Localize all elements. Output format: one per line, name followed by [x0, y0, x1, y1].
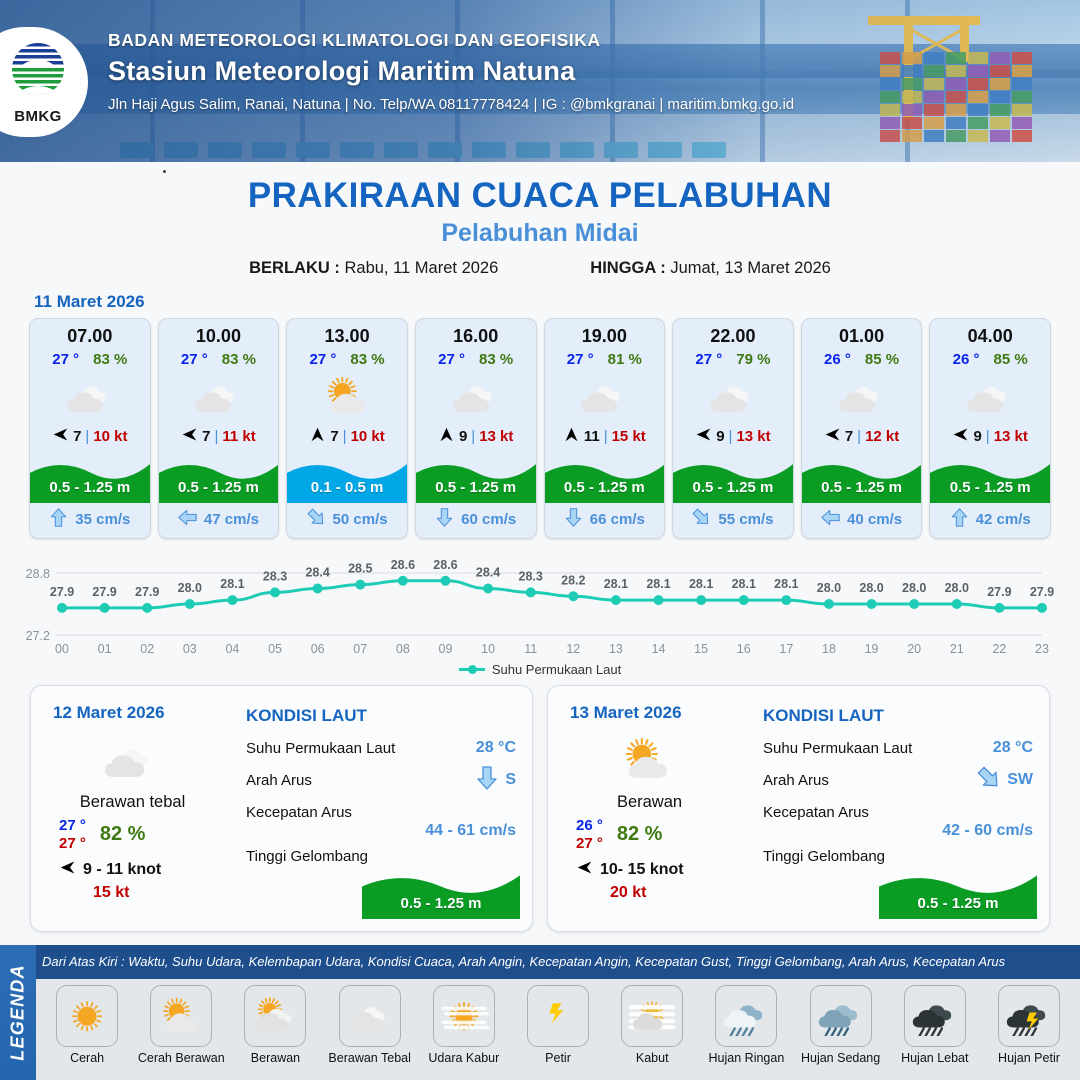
current-direction-row: Arah Arus S: [246, 764, 516, 796]
station-name: Stasiun Meteorologi Maritim Natuna: [108, 56, 794, 87]
card-temp-humidity: 27 °79 %: [673, 348, 793, 370]
legend-item-label: Cerah: [40, 1051, 134, 1065]
wind-direction-icon: [952, 426, 969, 447]
berawan-tebal-icon: [30, 370, 150, 424]
sst-value: 28 °C: [476, 739, 516, 757]
card-temperature: 27 °: [310, 351, 337, 368]
svg-text:09: 09: [439, 642, 453, 656]
svg-text:28.1: 28.1: [689, 577, 713, 591]
daily-sea-conditions: KONDISI LAUT Suhu Permukaan Laut 28 °C A…: [246, 686, 532, 931]
legend-item-label: Berawan Tebal: [323, 1051, 417, 1065]
svg-text:10: 10: [481, 642, 495, 656]
card-temp-humidity: 27 °83 %: [416, 348, 536, 370]
hujan-ringan-icon: [715, 985, 777, 1047]
sst-row: Suhu Permukaan Laut 28 °C: [246, 732, 516, 764]
svg-text:18: 18: [822, 642, 836, 656]
page-header: BMKG BADAN METEOROLOGI KLIMATOLOGI DAN G…: [0, 0, 1080, 162]
cerah-berawan-icon: [287, 370, 407, 424]
svg-text:28.6: 28.6: [433, 559, 457, 572]
berawan-tebal-icon: [416, 370, 536, 424]
card-humidity: 81 %: [608, 351, 642, 368]
berawan-tebal-icon: [53, 729, 246, 791]
hourly-card[interactable]: 04.0026 °85 %9|13 kt0.5 - 1.25 m42 cm/s: [929, 318, 1051, 539]
berawan-icon: [244, 985, 306, 1047]
svg-text:28.1: 28.1: [604, 577, 628, 591]
card-humidity: 83 %: [222, 351, 256, 368]
wind-direction-icon: [52, 426, 69, 447]
hourly-card[interactable]: 19.0027 °81 %11|15 kt0.5 - 1.25 m66 cm/s: [544, 318, 666, 539]
svg-text:01: 01: [98, 642, 112, 656]
current-direction-icon: [977, 766, 1001, 795]
hourly-card[interactable]: 22.0027 °79 %9|13 kt0.5 - 1.25 m55 cm/s: [672, 318, 794, 539]
svg-text:13: 13: [609, 642, 623, 656]
petir-icon: [527, 985, 589, 1047]
wind-speed: 9: [459, 428, 467, 445]
card-time: 13.00: [287, 319, 407, 348]
daily-wave-block: 0.5 - 1.25 m: [879, 863, 1037, 919]
card-current: 35 cm/s: [30, 503, 150, 538]
chart-legend-label: Suhu Permukaan Laut: [492, 662, 621, 677]
svg-text:28.1: 28.1: [732, 577, 756, 591]
legenda-tab: LEGENDA: [0, 945, 36, 1080]
current-speed: 35 cm/s: [75, 511, 130, 528]
daily-wave-value: 0.5 - 1.25 m: [879, 895, 1037, 912]
daily-temps: 26 ° 27 ° 82 %: [570, 817, 763, 852]
svg-text:03: 03: [183, 642, 197, 656]
current-direction-icon: [821, 508, 840, 531]
udara-kabur-icon: [433, 985, 495, 1047]
legend-item-label: Berawan: [228, 1051, 322, 1065]
validity-row: BERLAKU : Rabu, 11 Maret 2026 HINGGA : J…: [0, 259, 1080, 278]
card-temp-humidity: 26 °85 %: [802, 348, 922, 370]
card-humidity: 79 %: [736, 351, 770, 368]
legend-item-label: Udara Kabur: [417, 1051, 511, 1065]
svg-text:28.8: 28.8: [26, 567, 50, 581]
card-humidity: 83 %: [479, 351, 513, 368]
current-direction-icon: [178, 508, 197, 531]
wind-gust: 13 kt: [736, 428, 770, 445]
card-temperature: 26 °: [824, 351, 851, 368]
svg-text:27.9: 27.9: [50, 585, 74, 599]
daily-left: 13 Maret 2026 Berawan 26 ° 27 ° 82 % 10-…: [548, 686, 763, 931]
current-direction-group: S: [475, 766, 516, 795]
daily-humidity: 82 %: [617, 823, 663, 846]
card-time: 22.00: [673, 319, 793, 348]
wind-direction-icon: [438, 426, 455, 447]
legend-item: Cerah Berawan: [134, 985, 228, 1065]
wind-separator: |: [85, 428, 89, 445]
svg-text:28.4: 28.4: [476, 566, 500, 580]
current-speed: 47 cm/s: [204, 511, 259, 528]
daily-wave-block: 0.5 - 1.25 m: [362, 863, 520, 919]
current-speed: 42 cm/s: [976, 511, 1031, 528]
legend-item-label: Hujan Lebat: [888, 1051, 982, 1065]
svg-text:27.9: 27.9: [92, 585, 116, 599]
daily-sea-conditions: KONDISI LAUT Suhu Permukaan Laut 28 °C A…: [763, 686, 1049, 931]
svg-text:00: 00: [55, 642, 69, 656]
card-wind: 9|13 kt: [930, 424, 1050, 450]
card-temp-humidity: 27 °83 %: [287, 348, 407, 370]
wind-separator: |: [604, 428, 608, 445]
card-wave-height: 0.1 - 0.5 m: [287, 451, 407, 503]
sst-line-chart: 28.827.227.90027.90127.90228.00328.10428…: [0, 559, 1080, 659]
current-direction-icon: [475, 766, 499, 795]
legend-section: LEGENDA Dari Atas Kiri : Waktu, Suhu Uda…: [0, 945, 1080, 1080]
svg-text:04: 04: [225, 642, 239, 656]
card-wind: 7|12 kt: [802, 424, 922, 450]
hourly-card[interactable]: 10.0027 °83 %7|11 kt0.5 - 1.25 m47 cm/s: [158, 318, 280, 539]
daily-wind-speed: 10- 15 knot: [600, 861, 684, 879]
svg-text:16: 16: [737, 642, 751, 656]
wind-speed: 7: [202, 428, 210, 445]
svg-text:28.1: 28.1: [220, 577, 244, 591]
card-time: 01.00: [802, 319, 922, 348]
cerah-berawan-icon: [150, 985, 212, 1047]
current-speed-label: Kecepatan Arus: [246, 804, 352, 821]
daily-temps: 27 ° 27 ° 82 %: [53, 817, 246, 852]
daily-wind-speed: 9 - 11 knot: [83, 861, 161, 879]
current-direction-icon: [692, 508, 711, 531]
port-name: Pelabuhan Midai: [0, 219, 1080, 248]
wind-gust: 12 kt: [865, 428, 899, 445]
legend-items: CerahCerah BerawanBerawanBerawan TebalUd…: [36, 979, 1080, 1080]
current-direction-value: S: [505, 771, 516, 789]
wind-speed: 9: [716, 428, 724, 445]
card-temperature: 26 °: [953, 351, 980, 368]
legend-item: Cerah: [40, 985, 134, 1065]
card-wave-height: 0.5 - 1.25 m: [673, 451, 793, 503]
card-time: 07.00: [30, 319, 150, 348]
card-wind: 7|10 kt: [287, 424, 407, 450]
current-direction-label: Arah Arus: [246, 772, 312, 789]
card-wind: 11|15 kt: [545, 424, 665, 450]
card-wind: 7|10 kt: [30, 424, 150, 450]
legend-item-label: Hujan Petir: [982, 1051, 1076, 1065]
card-temperature: 27 °: [695, 351, 722, 368]
wind-gust: 10 kt: [351, 428, 385, 445]
daily-date: 13 Maret 2026: [570, 703, 763, 723]
hujan-lebat-icon: [904, 985, 966, 1047]
card-temperature: 27 °: [438, 351, 465, 368]
card-humidity: 83 %: [350, 351, 384, 368]
card-temp-humidity: 26 °85 %: [930, 348, 1050, 370]
card-temperature: 27 °: [52, 351, 79, 368]
card-humidity: 85 %: [865, 351, 899, 368]
kabut-icon: [621, 985, 683, 1047]
berawan-tebal-icon: [930, 370, 1050, 424]
sst-row: Suhu Permukaan Laut 28 °C: [763, 732, 1033, 764]
svg-text:17: 17: [779, 642, 793, 656]
legenda-tab-label: LEGENDA: [8, 964, 29, 1060]
card-temperature: 27 °: [181, 351, 208, 368]
current-direction-label: Arah Arus: [763, 772, 829, 789]
berawan-tebal-icon: [673, 370, 793, 424]
daily-date: 12 Maret 2026: [53, 703, 246, 723]
sea-conditions-title: KONDISI LAUT: [763, 706, 1033, 726]
legend-item: Berawan: [228, 985, 322, 1065]
svg-text:28.6: 28.6: [391, 559, 415, 572]
wind-separator: |: [986, 428, 990, 445]
card-current: 40 cm/s: [802, 503, 922, 538]
wind-direction-icon: [695, 426, 712, 447]
svg-text:28.0: 28.0: [945, 581, 969, 595]
card-current: 60 cm/s: [416, 503, 536, 538]
hourly-card[interactable]: 07.0027 °83 %7|10 kt0.5 - 1.25 m35 cm/s: [29, 318, 151, 539]
wind-speed: 7: [845, 428, 853, 445]
daily-temp-min: 27 °: [59, 835, 86, 852]
wind-separator: |: [214, 428, 218, 445]
wind-speed: 9: [973, 428, 981, 445]
daily-wave-value: 0.5 - 1.25 m: [362, 895, 520, 912]
wind-speed: 7: [330, 428, 338, 445]
daily-condition: Berawan tebal: [53, 793, 246, 812]
legend-item-label: Cerah Berawan: [134, 1051, 228, 1065]
daily-temp-max: 26 °: [576, 817, 603, 834]
hourly-card[interactable]: 16.0027 °83 %9|13 kt0.5 - 1.25 m60 cm/s: [415, 318, 537, 539]
wave-height-label: 0.5 - 1.25 m: [673, 479, 793, 496]
card-current: 42 cm/s: [930, 503, 1050, 538]
sst-chart: 28.827.227.90027.90127.90228.00328.10428…: [0, 553, 1080, 653]
svg-text:08: 08: [396, 642, 410, 656]
daily-wind: 9 - 11 knot: [53, 859, 246, 881]
berawan-tebal-icon: [545, 370, 665, 424]
sst-label: Suhu Permukaan Laut: [246, 740, 395, 757]
card-wave-height: 0.5 - 1.25 m: [159, 451, 279, 503]
current-direction-group: SW: [977, 766, 1033, 795]
svg-text:27.2: 27.2: [26, 629, 50, 643]
wave-label: Tinggi Gelombang: [246, 848, 368, 865]
svg-text:28.2: 28.2: [561, 573, 585, 587]
current-speed: 40 cm/s: [847, 511, 902, 528]
svg-text:07: 07: [353, 642, 367, 656]
svg-text:27.9: 27.9: [1030, 585, 1054, 599]
wind-speed: 7: [73, 428, 81, 445]
agency-name: BADAN METEOROLOGI KLIMATOLOGI DAN GEOFIS…: [108, 30, 794, 51]
daily-forecast-panels: 12 Maret 2026 Berawan tebal 27 ° 27 ° 82…: [0, 677, 1080, 932]
card-time: 19.00: [545, 319, 665, 348]
wind-direction-icon: [576, 859, 593, 881]
hourly-forecast-cards: 07.0027 °83 %7|10 kt0.5 - 1.25 m35 cm/s1…: [0, 318, 1080, 539]
sst-label: Suhu Permukaan Laut: [763, 740, 912, 757]
svg-text:23: 23: [1035, 642, 1049, 656]
svg-text:19: 19: [865, 642, 879, 656]
legend-item-label: Petir: [511, 1051, 605, 1065]
wind-separator: |: [857, 428, 861, 445]
wind-gust: 10 kt: [93, 428, 127, 445]
wind-speed: 11: [584, 428, 600, 445]
daily-humidity: 82 %: [100, 823, 146, 846]
wind-direction-icon: [563, 426, 580, 447]
svg-text:28.3: 28.3: [519, 569, 543, 583]
hourly-date-label: 11 Maret 2026: [34, 292, 1080, 312]
hujan-petir-icon: [998, 985, 1060, 1047]
svg-text:28.1: 28.1: [646, 577, 670, 591]
current-direction-row: Arah Arus SW: [763, 764, 1033, 796]
current-speed: 66 cm/s: [590, 511, 645, 528]
card-wind: 9|13 kt: [673, 424, 793, 450]
hingga-value: Jumat, 13 Maret 2026: [670, 259, 831, 277]
current-direction-icon: [564, 508, 583, 531]
header-text-block: BADAN METEOROLOGI KLIMATOLOGI DAN GEOFIS…: [108, 30, 794, 113]
current-speed-value: 42 - 60 cm/s: [763, 822, 1033, 840]
card-wind: 9|13 kt: [416, 424, 536, 450]
berlaku-group: BERLAKU : Rabu, 11 Maret 2026: [249, 259, 498, 278]
daily-temp-min: 27 °: [576, 835, 603, 852]
svg-text:21: 21: [950, 642, 964, 656]
current-direction-icon: [307, 508, 326, 531]
legend-item: Hujan Sedang: [794, 985, 888, 1065]
legend-item-label: Hujan Sedang: [794, 1051, 888, 1065]
sst-value: 28 °C: [993, 739, 1033, 757]
wind-separator: |: [729, 428, 733, 445]
legend-item-label: Hujan Ringan: [699, 1051, 793, 1065]
card-wave-height: 0.5 - 1.25 m: [545, 451, 665, 503]
berlaku-label: BERLAKU :: [249, 259, 340, 277]
current-speed: 50 cm/s: [333, 511, 388, 528]
svg-text:28.0: 28.0: [859, 581, 883, 595]
svg-text:27.9: 27.9: [987, 585, 1011, 599]
svg-text:28.5: 28.5: [348, 562, 372, 576]
svg-text:02: 02: [140, 642, 154, 656]
card-current: 47 cm/s: [159, 503, 279, 538]
daily-left: 12 Maret 2026 Berawan tebal 27 ° 27 ° 82…: [31, 686, 246, 931]
hourly-card[interactable]: 13.0027 °83 %7|10 kt0.1 - 0.5 m50 cm/s: [286, 318, 408, 539]
svg-text:05: 05: [268, 642, 282, 656]
legend-item: Berawan Tebal: [323, 985, 417, 1065]
daily-forecast-panel[interactable]: 13 Maret 2026 Berawan 26 ° 27 ° 82 % 10-…: [547, 685, 1050, 932]
berawan-tebal-icon: [339, 985, 401, 1047]
berawan-tebal-icon: [802, 370, 922, 424]
card-temperature: 27 °: [567, 351, 594, 368]
bmkg-logo-text: BMKG: [0, 108, 76, 125]
current-direction-icon: [49, 508, 68, 531]
daily-gust: 15 kt: [53, 884, 246, 902]
svg-text:28.4: 28.4: [305, 566, 329, 580]
card-current: 66 cm/s: [545, 503, 665, 538]
wind-gust: 13 kt: [479, 428, 513, 445]
bmkg-emblem-icon: [7, 40, 69, 102]
berlaku-value: Rabu, 11 Maret 2026: [344, 259, 498, 277]
svg-text:28.3: 28.3: [263, 569, 287, 583]
hingga-group: HINGGA : Jumat, 13 Maret 2026: [590, 259, 831, 278]
daily-condition: Berawan: [570, 793, 763, 812]
svg-text:28.1: 28.1: [774, 577, 798, 591]
legend-item: Kabut: [605, 985, 699, 1065]
card-wave-height: 0.5 - 1.25 m: [30, 451, 150, 503]
card-time: 04.00: [930, 319, 1050, 348]
svg-text:22: 22: [992, 642, 1006, 656]
svg-text:28.0: 28.0: [817, 581, 841, 595]
current-direction-value: SW: [1007, 771, 1033, 789]
wind-direction-icon: [824, 426, 841, 447]
daily-wind: 10- 15 knot: [570, 859, 763, 881]
bmkg-logo: BMKG: [0, 27, 88, 137]
legend-item: Hujan Ringan: [699, 985, 793, 1065]
wave-height-label: 0.5 - 1.25 m: [802, 479, 922, 496]
legend-line-icon: [459, 668, 485, 671]
wind-separator: |: [471, 428, 475, 445]
page-title-block: PRAKIRAAN CUACA PELABUHAN Pelabuhan Mida…: [0, 176, 1080, 278]
card-wave-height: 0.5 - 1.25 m: [416, 451, 536, 503]
svg-text:12: 12: [566, 642, 580, 656]
daily-forecast-panel[interactable]: 12 Maret 2026 Berawan tebal 27 ° 27 ° 82…: [30, 685, 533, 932]
cerah-berawan-icon: [570, 729, 763, 791]
wave-height-label: 0.1 - 0.5 m: [287, 479, 407, 496]
current-speed: 60 cm/s: [461, 511, 516, 528]
daily-temp-max: 27 °: [59, 817, 86, 834]
card-temp-humidity: 27 °83 %: [30, 348, 150, 370]
current-direction-icon: [950, 508, 969, 531]
station-address: Jln Haji Agus Salim, Ranai, Natuna | No.…: [108, 96, 794, 113]
wind-gust: 13 kt: [994, 428, 1028, 445]
wave-height-label: 0.5 - 1.25 m: [30, 479, 150, 496]
svg-text:06: 06: [311, 642, 325, 656]
wind-direction-icon: [309, 426, 326, 447]
wind-separator: |: [343, 428, 347, 445]
legend-item: Hujan Petir: [982, 985, 1076, 1065]
legend-item: Petir: [511, 985, 605, 1065]
wind-direction-icon: [181, 426, 198, 447]
cerah-icon: [56, 985, 118, 1047]
svg-text:20: 20: [907, 642, 921, 656]
svg-text:28.0: 28.0: [902, 581, 926, 595]
page-title: PRAKIRAAN CUACA PELABUHAN: [0, 176, 1080, 216]
hingga-label: HINGGA :: [590, 259, 665, 277]
wind-gust: 15 kt: [612, 428, 646, 445]
card-current: 50 cm/s: [287, 503, 407, 538]
card-time: 16.00: [416, 319, 536, 348]
stray-dot: [163, 170, 166, 173]
svg-text:15: 15: [694, 642, 708, 656]
wind-direction-icon: [59, 859, 76, 881]
svg-text:27.9: 27.9: [135, 585, 159, 599]
chart-legend: Suhu Permukaan Laut: [0, 662, 1080, 677]
card-temp-humidity: 27 °81 %: [545, 348, 665, 370]
legend-note: Dari Atas Kiri : Waktu, Suhu Udara, Kele…: [42, 954, 1072, 969]
legend-item: Udara Kabur: [417, 985, 511, 1065]
card-humidity: 83 %: [93, 351, 127, 368]
legend-item-label: Kabut: [605, 1051, 699, 1065]
current-speed-label: Kecepatan Arus: [763, 804, 869, 821]
current-speed: 55 cm/s: [718, 511, 773, 528]
hujan-sedang-icon: [810, 985, 872, 1047]
wave-label: Tinggi Gelombang: [763, 848, 885, 865]
wave-height-label: 0.5 - 1.25 m: [159, 479, 279, 496]
legend-item: Hujan Lebat: [888, 985, 982, 1065]
wave-height-label: 0.5 - 1.25 m: [930, 479, 1050, 496]
wind-gust: 11 kt: [222, 428, 255, 445]
card-temp-humidity: 27 °83 %: [159, 348, 279, 370]
berawan-tebal-icon: [159, 370, 279, 424]
card-wave-height: 0.5 - 1.25 m: [930, 451, 1050, 503]
card-current: 55 cm/s: [673, 503, 793, 538]
card-wind: 7|11 kt: [159, 424, 279, 450]
daily-gust: 20 kt: [570, 884, 763, 902]
svg-text:28.0: 28.0: [178, 581, 202, 595]
svg-text:14: 14: [652, 642, 666, 656]
card-time: 10.00: [159, 319, 279, 348]
wave-height-label: 0.5 - 1.25 m: [416, 479, 536, 496]
current-speed-value: 44 - 61 cm/s: [246, 822, 516, 840]
svg-text:11: 11: [524, 642, 537, 656]
current-direction-icon: [435, 508, 454, 531]
card-humidity: 85 %: [994, 351, 1028, 368]
hourly-card[interactable]: 01.0026 °85 %7|12 kt0.5 - 1.25 m40 cm/s: [801, 318, 923, 539]
card-wave-height: 0.5 - 1.25 m: [802, 451, 922, 503]
wave-height-label: 0.5 - 1.25 m: [545, 479, 665, 496]
sea-conditions-title: KONDISI LAUT: [246, 706, 516, 726]
